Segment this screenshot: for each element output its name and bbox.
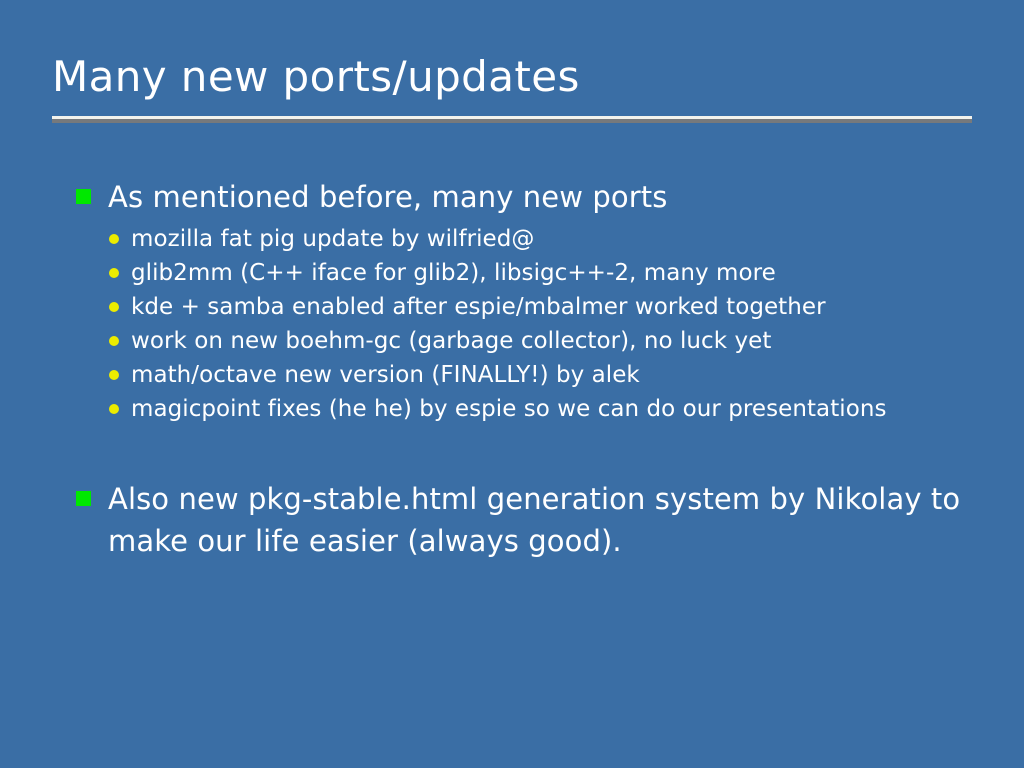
bullet-level1: Also new pkg-stable.html generation syst… [76, 478, 976, 562]
bullet-level1-label: As mentioned before, many new ports [108, 180, 667, 214]
bullet-group: As mentioned before, many new ports mozi… [76, 176, 976, 426]
dot-bullet-icon [109, 336, 119, 346]
square-bullet-icon [76, 189, 91, 204]
bullet-level2: work on new boehm-gc (garbage collector)… [109, 324, 976, 358]
bullet-level2: magicpoint fixes (he he) by espie so we … [109, 392, 976, 426]
presentation-slide: Many new ports/updates As mentioned befo… [0, 0, 1024, 768]
bullet-level2-label: work on new boehm-gc (garbage collector)… [131, 328, 771, 354]
dot-bullet-icon [109, 404, 119, 414]
page-title: Many new ports/updates [52, 52, 972, 102]
bullet-level2: math/octave new version (FINALLY!) by al… [109, 358, 976, 392]
bullet-level2-label: mozilla fat pig update by wilfried@ [131, 226, 534, 252]
bullet-level1: As mentioned before, many new ports [76, 176, 976, 218]
slide-body: As mentioned before, many new ports mozi… [76, 176, 976, 562]
bullet-level2-label: magicpoint fixes (he he) by espie so we … [131, 396, 887, 422]
dot-bullet-icon [109, 370, 119, 380]
bullet-level2: mozilla fat pig update by wilfried@ [109, 222, 976, 256]
bullet-level2-label: glib2mm (C++ iface for glib2), libsigc++… [131, 260, 776, 286]
bullet-level2-list: mozilla fat pig update by wilfried@ glib… [76, 222, 976, 426]
bullet-level2: kde + samba enabled after espie/mbalmer … [109, 290, 976, 324]
bullet-level2: glib2mm (C++ iface for glib2), libsigc++… [109, 256, 976, 290]
bullet-level2-label: kde + samba enabled after espie/mbalmer … [131, 294, 826, 320]
slide-title-block: Many new ports/updates [52, 52, 972, 102]
bullet-group: Also new pkg-stable.html generation syst… [76, 478, 976, 562]
square-bullet-icon [76, 491, 91, 506]
bullet-level2-label: math/octave new version (FINALLY!) by al… [131, 362, 640, 388]
bullet-level1-label: Also new pkg-stable.html generation syst… [108, 482, 960, 558]
dot-bullet-icon [109, 302, 119, 312]
title-divider-shadow [52, 119, 972, 123]
dot-bullet-icon [109, 268, 119, 278]
dot-bullet-icon [109, 234, 119, 244]
